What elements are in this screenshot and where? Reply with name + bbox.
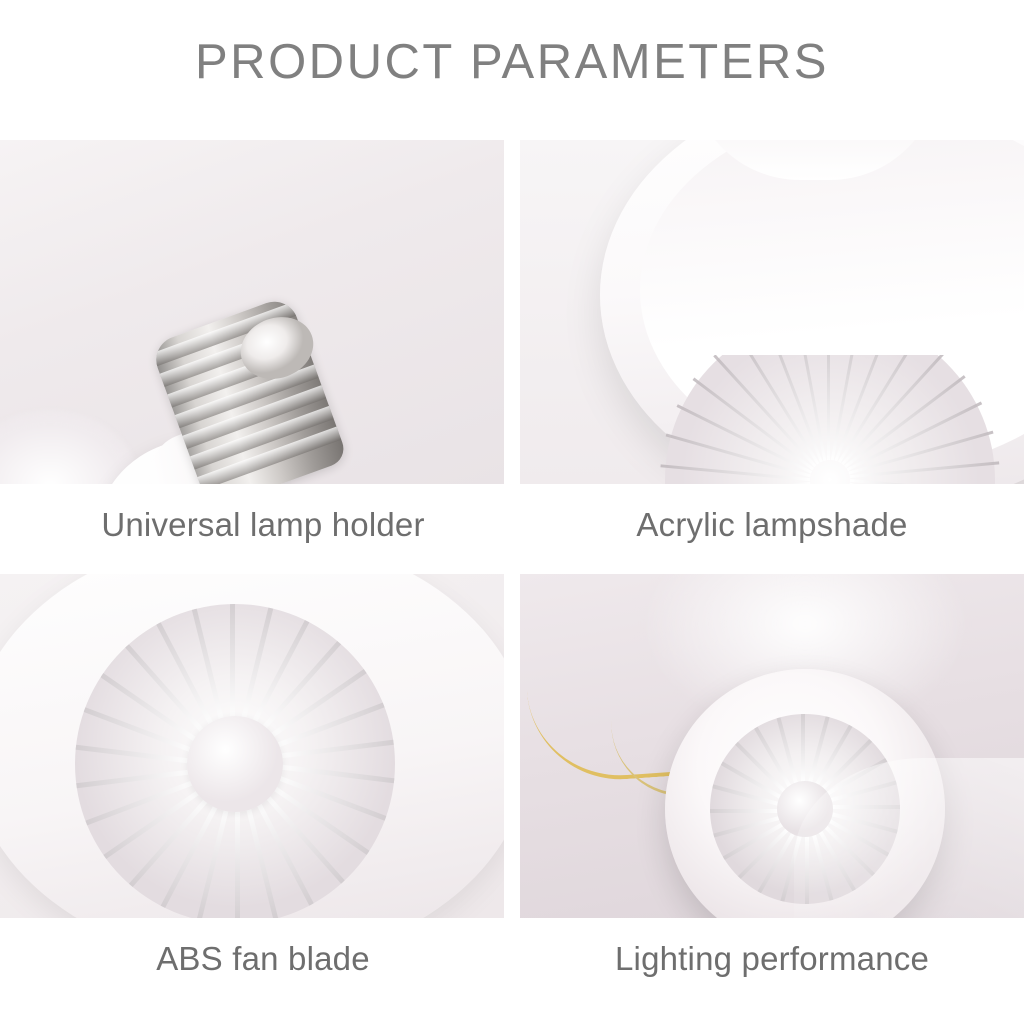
fan-disc-shape (665, 355, 995, 484)
caption-acrylic-lampshade: Acrylic lampshade (520, 484, 1024, 566)
fan-blade-shape (230, 604, 235, 722)
photo-universal-lamp-holder (0, 140, 504, 484)
fan-blade-shape (660, 464, 810, 481)
fan-blade-shape (801, 714, 805, 783)
photo-lighting-performance (520, 574, 1024, 918)
fan-blade-shape (263, 792, 373, 915)
fan-blade-shape (235, 806, 240, 918)
product-parameters-page: PRODUCT PARAMETERS Univer (0, 0, 1024, 1024)
panel-abs-fan-blade: ABS fan blade (0, 574, 504, 1000)
caption-lighting-performance: Lighting performance (520, 918, 1024, 1000)
panel-grid: Universal lamp holder Acrylic lampshade (0, 140, 1024, 1024)
caption-universal-lamp-holder: Universal lamp holder (0, 484, 504, 566)
fan-blade-shape (710, 809, 779, 813)
panel-universal-lamp-holder: Universal lamp holder (0, 140, 504, 566)
fan-region (610, 355, 1024, 484)
photo-abs-fan-blade (0, 574, 504, 918)
photo-acrylic-lampshade (520, 140, 1024, 484)
panel-lighting-performance: Lighting performance (520, 574, 1024, 1000)
fan-blade-shape (827, 355, 830, 460)
fan-disc-shape (75, 604, 395, 918)
page-title: PRODUCT PARAMETERS (0, 34, 1024, 90)
caption-abs-fan-blade: ABS fan blade (0, 918, 504, 1000)
panel-acrylic-lampshade: Acrylic lampshade (520, 140, 1024, 566)
